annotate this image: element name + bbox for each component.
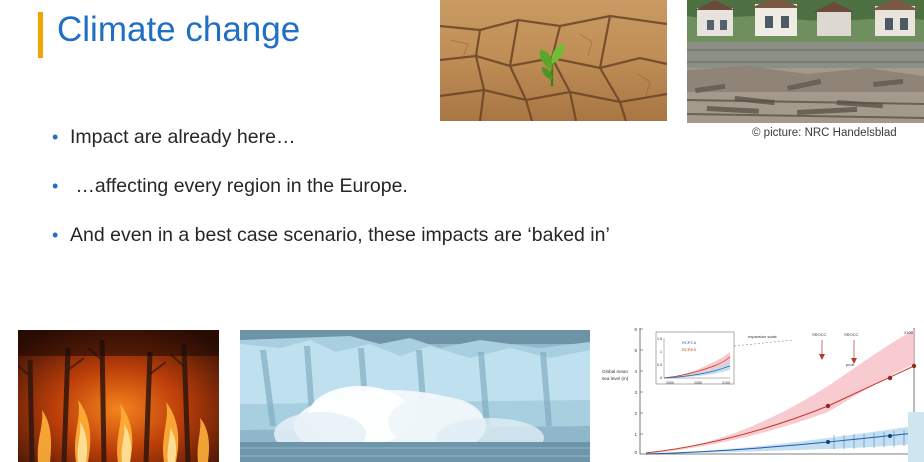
wildfire-photo: [18, 330, 219, 462]
wildfire-photo-graphic: [18, 330, 219, 462]
sea-level-chart-graphic: 6 5 4 3 2 1 0 Global mean sea level (m): [598, 320, 924, 462]
svg-text:2050: 2050: [694, 381, 702, 385]
list-item: • Impact are already here…: [52, 125, 792, 149]
list-item: • …affecting every region in the Europe.: [52, 174, 792, 198]
glacier-photo-graphic: [240, 330, 590, 462]
svg-text:1.5: 1.5: [657, 337, 662, 341]
drought-photo: [440, 0, 667, 121]
svg-text:SROCC: SROCC: [812, 332, 827, 337]
bullet-marker-icon: •: [52, 224, 70, 246]
glacier-photo: [240, 330, 590, 462]
title-accent-bar: [38, 12, 43, 58]
svg-text:0.5: 0.5: [657, 363, 662, 367]
svg-text:0: 0: [660, 376, 662, 380]
svg-text:RCP2.6: RCP2.6: [682, 340, 697, 345]
bullet-text: And even in a best case scenario, these …: [70, 223, 610, 247]
svg-text:sea level (m): sea level (m): [602, 376, 629, 381]
svg-text:2100: 2100: [904, 330, 914, 335]
svg-text:Global mean: Global mean: [602, 369, 628, 374]
bullet-marker-icon: •: [52, 126, 70, 148]
drought-photo-graphic: [440, 0, 667, 121]
flood-photo-graphic: [687, 0, 924, 123]
sea-level-rise-chart: 6 5 4 3 2 1 0 Global mean sea level (m): [598, 320, 924, 462]
bullet-text: Impact are already here…: [70, 125, 295, 149]
bullet-list: • Impact are already here… • …affecting …: [52, 125, 792, 272]
chart-inset: 1.5 1 0.5 0 2000 2050 2100 RCP2.6 RCP8.5: [656, 332, 734, 385]
side-accent-panel: [908, 412, 924, 462]
flood-photo: [687, 0, 924, 123]
bullet-text: …affecting every region in the Europe.: [70, 174, 408, 198]
svg-text:SROCC: SROCC: [844, 332, 859, 337]
slide-title-block: Climate change: [38, 8, 300, 58]
svg-text:1: 1: [660, 350, 662, 354]
list-item: • And even in a best case scenario, thes…: [52, 223, 792, 247]
bullet-marker-icon: •: [52, 175, 70, 197]
svg-text:expansion scale: expansion scale: [748, 334, 777, 339]
svg-text:2000: 2000: [666, 381, 674, 385]
svg-text:RCP8.5: RCP8.5: [682, 347, 697, 352]
svg-text:2100: 2100: [722, 381, 730, 385]
page-title: Climate change: [57, 8, 300, 52]
